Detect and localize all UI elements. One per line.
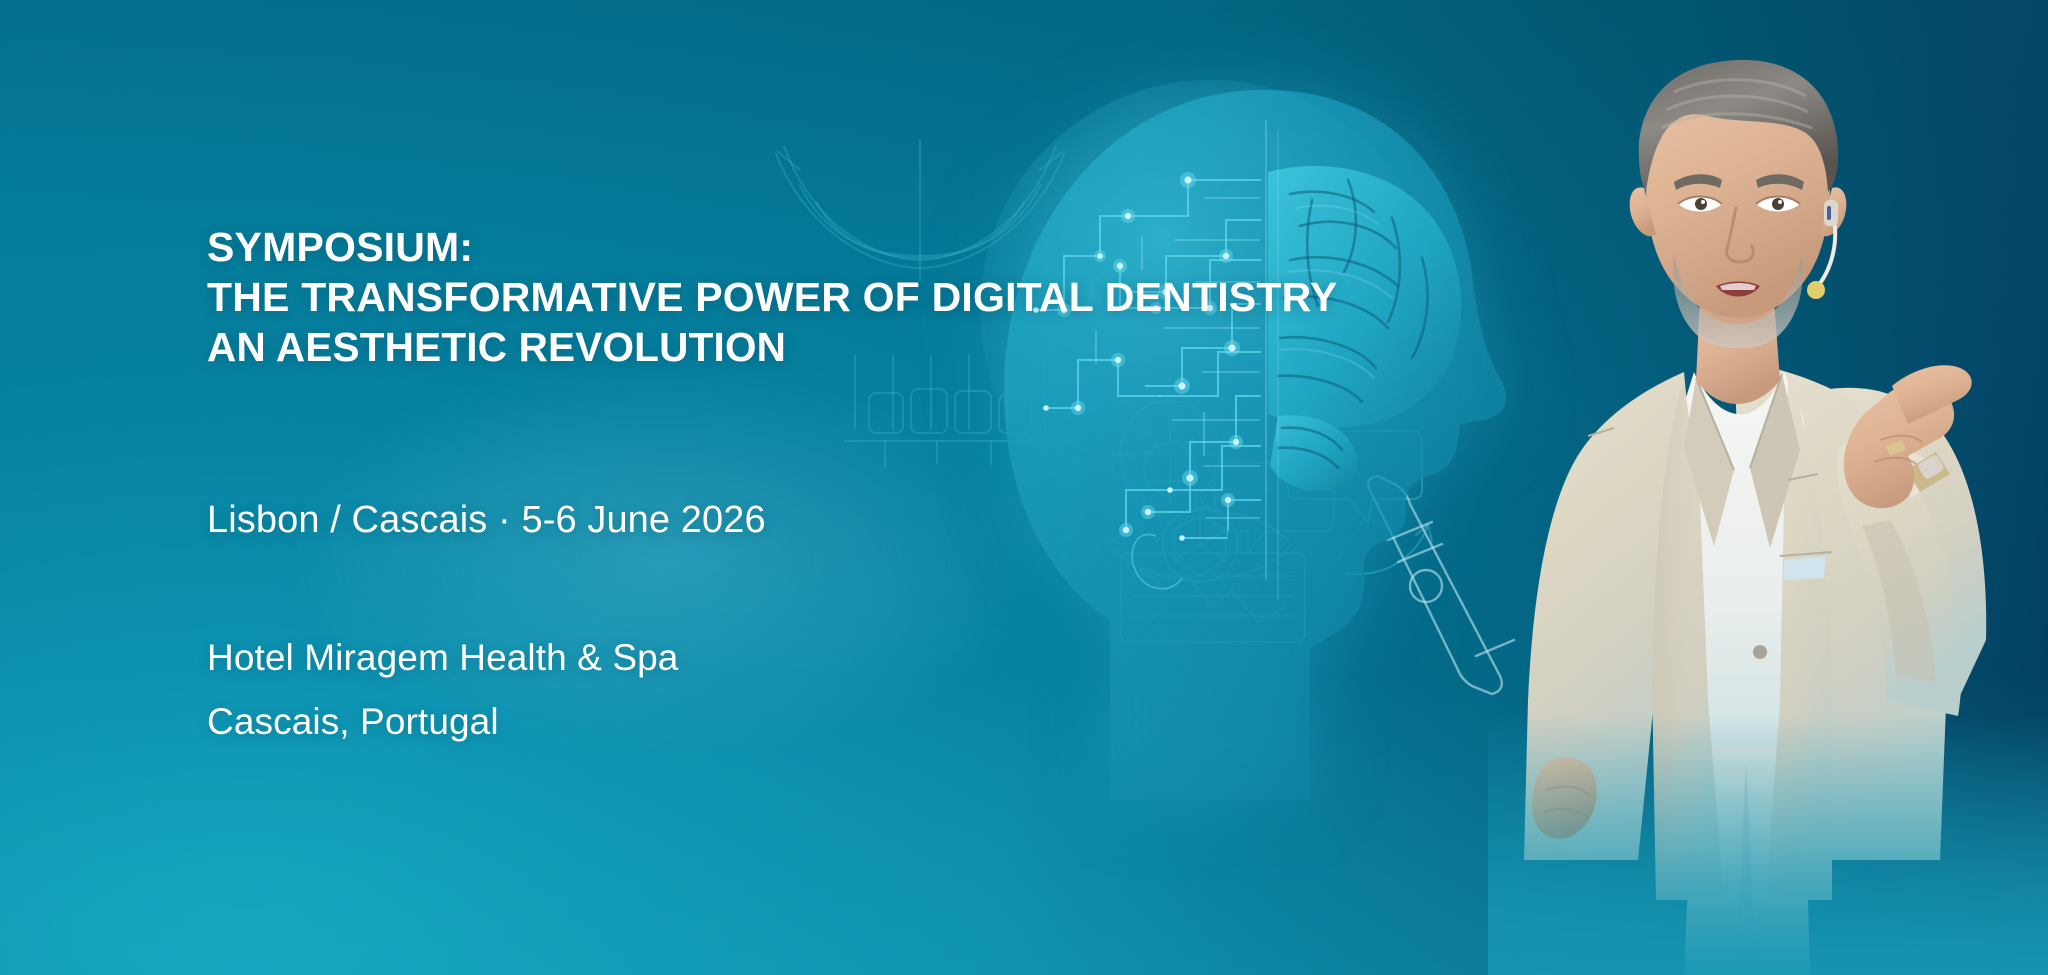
speaker-photo bbox=[1488, 0, 2048, 975]
headline-line-3: AN AESTHETIC REVOLUTION bbox=[207, 322, 1527, 372]
headline-line-1: SYMPOSIUM: bbox=[207, 222, 1527, 272]
symposium-banner: SYMPOSIUM: THE TRANSFORMATIVE POWER OF D… bbox=[0, 0, 2048, 975]
headline-line-2: THE TRANSFORMATIVE POWER OF DIGITAL DENT… bbox=[207, 272, 1527, 322]
headline-block: SYMPOSIUM: THE TRANSFORMATIVE POWER OF D… bbox=[207, 222, 1527, 372]
event-location-date: Lisbon / Cascais · 5-6 June 2026 bbox=[207, 497, 1307, 543]
venue-city: Cascais, Portugal bbox=[207, 690, 1307, 754]
venue-block: Hotel Miragem Health & Spa Cascais, Port… bbox=[207, 626, 1307, 754]
venue-name: Hotel Miragem Health & Spa bbox=[207, 626, 1307, 690]
event-meta-block: Lisbon / Cascais · 5-6 June 2026 bbox=[207, 497, 1307, 543]
